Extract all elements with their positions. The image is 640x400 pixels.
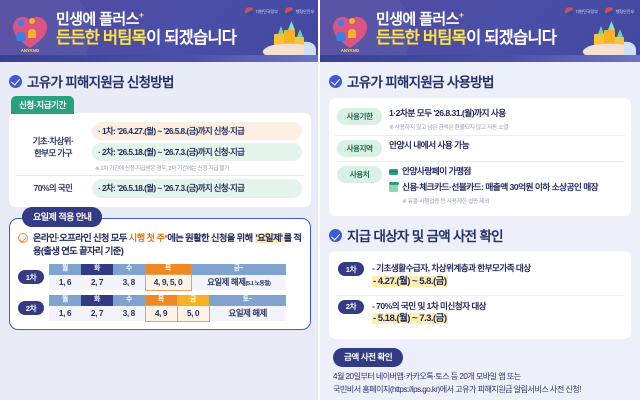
hand-holding-money-icon — [568, 14, 636, 60]
wk1-header-mon: 월 — [49, 264, 81, 275]
check-circle-outline-icon — [18, 233, 28, 243]
wk1-header-wed: 수 — [113, 264, 145, 275]
use-main-region: 안양시 내에서 사용 가능 — [389, 140, 623, 152]
confirm-text-block: 4월 20일부터 네이버앱·카카오톡·토스 등 20개 모바일 앱 또는 국민비… — [333, 371, 640, 397]
banner-line1-sup: + — [459, 10, 464, 20]
weekday-table-1cha: 월 화 수 목 금~ 1, 6 2, 7 3, 8 4, 9, 5, 0 요일제… — [49, 264, 286, 291]
banner-bottom-strip — [0, 55, 320, 62]
use-body-vendor: 안양사랑페이 가맹점 신용·체크카드·선불카드: 매출액 30억원 이하 소상공… — [389, 166, 623, 205]
round-badge-target-1cha: 1차 — [338, 262, 364, 276]
banner-line2-highlight: 든든한 버팀목 — [376, 29, 466, 47]
period-table: 기초·차상위·한부모 가구 · 1차: '26.4.27.(월) ~ '26.5… — [16, 119, 304, 201]
period-chip-1cha: · 1차: '26.4.27.(월) ~ '26.5.8.(금)까지 신청·지급 — [92, 122, 302, 140]
use-row-region: 사용지역 안양시 내에서 사용 가능 — [335, 135, 625, 161]
wk2-cell-wed: 3, 8 — [113, 306, 145, 321]
banner-line1: 민생에 플러스+ — [56, 11, 236, 28]
svg-text:ANYANG: ANYANG — [341, 48, 360, 53]
wk1-cell-tue: 2, 7 — [81, 275, 113, 290]
use-tag-vendor: 사용처 — [337, 166, 382, 183]
target-section-heading: 지급 대상자 및 금액 사전 확인 — [320, 225, 640, 245]
round-badge-target-2cha: 2차 — [338, 300, 364, 314]
use-tag-period: 사용기한 — [337, 108, 382, 125]
use-body-region: 안양시 내에서 사용 가능 — [389, 140, 623, 152]
period-tab-label: 신청·지급기간 — [11, 96, 74, 114]
infographic-page: ANYANG 민생에 플러스+ 든든한 버팀목이 되겠습니다 대한민국정부 행정… — [0, 0, 640, 400]
target-2cha-line2-text: - 5.18.(월) ~ 7.3.(금) — [372, 313, 448, 324]
use-body-period: 1·2차분 모두 '26.8.31.(월)까지 사용 ※ 사용하지 않고 남은 … — [389, 108, 623, 131]
target-1cha-line1: - 기초생활수급자, 차상위계층과 한부모가족 대상 — [372, 262, 622, 274]
wk1-header-tue: 화 — [81, 264, 113, 275]
banner-line2-rest: 이 되겠습니다 — [146, 29, 236, 47]
period-chip-2cha-70: · 2차: '26.5.18.(월) ~ '26.7.3.(금)까지 신청·지급 — [92, 179, 302, 197]
family-heart-emblem: ANYANG — [8, 10, 52, 54]
target-2cha-line2: - 5.18.(월) ~ 7.3.(금) — [372, 312, 622, 326]
wk2-cell-thu: 4, 9 — [145, 306, 177, 321]
weekday-info-part1: 온라인·오프라인 신청 모두 — [33, 233, 129, 243]
wk2-header-tue: 화 — [81, 295, 113, 306]
use-sub-period: ※ 사용하지 않고 남은 금액은 환불되지 않고 자동 소멸 — [389, 122, 623, 131]
use-row-vendor: 사용처 안양사랑페이 가맹점 신용·체크카드·선불카드: 매출액 30억원 이하… — [335, 161, 625, 209]
banner-bottom-strip — [320, 55, 640, 62]
wk2-header-fri: 금 — [177, 295, 209, 306]
target-1cha-line2: - 4.27.(월) ~ 5.8.(금) — [372, 275, 622, 289]
banner-line2: 든든한 버팀목이 되겠습니다 — [376, 29, 556, 47]
round-badge-1cha: 1차 — [18, 270, 44, 284]
banner-line1: 민생에 플러스+ — [376, 11, 556, 28]
period-row-0-label: 기초·차상위·한부모 가구 — [16, 119, 90, 176]
weekday-info-part2: 에는 원활한 신청을 위해 — [167, 233, 254, 243]
banner-line1-text: 민생에 플러스 — [376, 11, 459, 28]
period-row-0-note: ※ 1차 기간에 신청·지급받은 경우, 2차 기간에는 신청·지급 불가 — [92, 164, 302, 172]
wk2-cell-tue: 2, 7 — [81, 306, 113, 321]
use-section-title: 고유가 피해지원금 사용방법 — [347, 71, 494, 91]
store-icon — [389, 184, 398, 192]
wk2-header-thu: 목 — [145, 295, 177, 306]
weekday-info-hl2: '요일제' — [255, 233, 284, 243]
wk1-cell-fri: 요일제 해제(5.1 노동절) — [191, 275, 286, 290]
banner-line2: 든든한 버팀목이 되겠습니다 — [56, 29, 236, 47]
weekday-tables: 1차 월 화 수 목 금~ 1, 6 2, 7 3, 8 — [18, 264, 302, 322]
vendor-item-0-text: 안양사랑페이 가맹점 — [402, 166, 471, 178]
weekday-info-text: 온라인·오프라인 신청 모두 시행 첫 주*에는 원활한 신청을 위해 '요일제… — [33, 232, 302, 259]
left-section-title: 고유가 피해지원금 신청방법 — [27, 71, 174, 91]
weekday-info-row: 온라인·오프라인 신청 모두 시행 첫 주*에는 원활한 신청을 위해 '요일제… — [18, 232, 302, 259]
banner-line1-sup: + — [139, 10, 144, 20]
left-panel: ANYANG 민생에 플러스+ 든든한 버팀목이 되겠습니다 대한민국정부 행정… — [0, 0, 320, 400]
period-row-1-label: 70%의 국민 — [16, 176, 90, 201]
table-row: 월 화 수 목 금 토~ — [49, 295, 286, 306]
svg-text:ANYANG: ANYANG — [21, 48, 40, 53]
left-section-heading: 고유가 피해지원금 신청방법 — [0, 71, 320, 91]
use-row-period: 사용기한 1·2차분 모두 '26.8.31.(월)까지 사용 ※ 사용하지 않… — [335, 104, 625, 135]
confirm-line1: 4월 20일부터 네이버앱·카카오톡·토스 등 20개 모바일 앱 또는 — [333, 371, 640, 384]
table-row: 월 화 수 목 금~ — [49, 264, 286, 275]
table-row: 70%의 국민 · 2차: '26.5.18.(월) ~ '26.7.3.(금)… — [16, 176, 304, 201]
target-card: 1차 - 기초생활수급자, 차상위계층과 한부모가족 대상 - 4.27.(월)… — [329, 251, 631, 339]
wk1-cell-wed: 3, 8 — [113, 275, 145, 290]
card-icon — [389, 169, 398, 176]
vendor-item-1-text: 신용·체크카드·선불카드: 매출액 30억원 이하 소상공인 매장 — [402, 182, 598, 194]
period-chip-2cha: · 2차: '26.5.18.(월) ~ '26.7.3.(금)까지 신청·지급 — [92, 143, 302, 161]
vendor-item-0: 안양사랑페이 가맹점 — [389, 166, 623, 178]
wk2-cell-mon: 1, 6 — [49, 306, 81, 321]
target-lines-1cha: - 기초생활수급자, 차상위계층과 한부모가족 대상 - 4.27.(월) ~ … — [372, 262, 622, 288]
period-card: 기초·차상위·한부모 가구 · 1차: '26.4.27.(월) ~ '26.5… — [9, 113, 311, 207]
period-row-0-body: · 1차: '26.4.27.(월) ~ '26.5.8.(금)까지 신청·지급… — [90, 119, 304, 176]
target-lines-2cha: - 70%의 국민 및 1차 미신청자 대상 - 5.18.(월) ~ 7.3.… — [372, 300, 622, 326]
use-section-heading: 고유가 피해지원금 사용방법 — [320, 71, 640, 91]
use-main-period: 1·2차분 모두 '26.8.31.(월)까지 사용 — [389, 108, 623, 120]
wk1-cell-thu: 4, 9, 5, 0 — [145, 275, 191, 290]
wk2-header-wed: 수 — [113, 295, 145, 306]
check-circle-icon — [9, 75, 22, 88]
wk2-header-mon: 월 — [49, 295, 81, 306]
check-circle-icon — [329, 229, 342, 242]
right-panel: ANYANG 민생에 플러스+ 든든한 버팀목이 되겠습니다 대한민국정부 행정… — [320, 0, 640, 400]
weekday-info-hl1: 시행 첫 주* — [129, 233, 168, 243]
banner-text-block: 민생에 플러스+ 든든한 버팀목이 되겠습니다 — [56, 11, 236, 48]
table-row: 1, 6 2, 7 3, 8 4, 9 5, 0 요일제 해제 — [49, 306, 286, 321]
weekday-pill-label: 요일제 적용 안내 — [22, 207, 102, 227]
wk2-cell-fri: 5, 0 — [177, 306, 209, 321]
target-2cha-line1: - 70%의 국민 및 1차 미신청자 대상 — [372, 300, 622, 312]
confirm-pill-label: 금액 사전 확인 — [333, 348, 403, 367]
wk1-header-fri: 금~ — [191, 264, 286, 275]
target-row-2cha: 2차 - 70%의 국민 및 1차 미신청자 대상 - 5.18.(월) ~ 7… — [336, 295, 624, 331]
target-1cha-line2-text: - 4.27.(월) ~ 5.8.(금) — [372, 276, 448, 287]
wk1-cell-fri-sub: (5.1 노동절) — [246, 281, 271, 287]
target-section-title: 지급 대상자 및 금액 사전 확인 — [347, 225, 503, 245]
period-row-1-body: · 2차: '26.5.18.(월) ~ '26.7.3.(금)까지 신청·지급 — [90, 176, 304, 201]
weekday-row-2cha: 2차 월 화 수 목 금 토~ 1, 6 2, 7 — [18, 295, 302, 322]
banner-text-block: 민생에 플러스+ 든든한 버팀목이 되겠습니다 — [376, 11, 556, 48]
vendor-note: ※ 유흥·사행업종 등 사용제한 업종 제외 — [389, 196, 623, 205]
weekday-info-box: 온라인·오프라인 신청 모두 시행 첫 주*에는 원활한 신청을 위해 '요일제… — [9, 218, 311, 330]
wk2-header-sat: 토~ — [209, 295, 286, 306]
target-row-1cha: 1차 - 기초생활수급자, 차상위계층과 한부모가족 대상 - 4.27.(월)… — [336, 258, 624, 293]
use-card: 사용기한 1·2차분 모두 '26.8.31.(월)까지 사용 ※ 사용하지 않… — [329, 98, 631, 216]
vendor-item-1: 신용·체크카드·선불카드: 매출액 30억원 이하 소상공인 매장 — [389, 182, 623, 194]
banner-line2-rest: 이 되겠습니다 — [466, 29, 556, 47]
weekday-table-2cha: 월 화 수 목 금 토~ 1, 6 2, 7 3, 8 4, 9 5 — [49, 295, 286, 322]
wk2-cell-sat: 요일제 해제 — [209, 306, 286, 321]
banner-left: ANYANG 민생에 플러스+ 든든한 버팀목이 되겠습니다 대한민국정부 행정… — [0, 0, 320, 62]
wk1-cell-fri-text: 요일제 해제 — [207, 277, 245, 287]
check-circle-icon — [329, 75, 342, 88]
confirm-line2: 국민비서 홈페이지(https://ips.go.kr)에서 고유가 피해지원금… — [333, 384, 640, 397]
table-row: 1, 6 2, 7 3, 8 4, 9, 5, 0 요일제 해제(5.1 노동절… — [49, 275, 286, 290]
banner-right: ANYANG 민생에 플러스+ 든든한 버팀목이 되겠습니다 대한민국정부 행정… — [320, 0, 640, 62]
family-heart-emblem: ANYANG — [328, 10, 372, 54]
wk1-cell-mon: 1, 6 — [49, 275, 81, 290]
banner-line1-text: 민생에 플러스 — [56, 11, 139, 28]
weekday-row-1cha: 1차 월 화 수 목 금~ 1, 6 2, 7 3, 8 — [18, 264, 302, 291]
round-badge-2cha: 2차 — [18, 301, 44, 315]
table-row: 기초·차상위·한부모 가구 · 1차: '26.4.27.(월) ~ '26.5… — [16, 119, 304, 176]
banner-line2-highlight: 든든한 버팀목 — [56, 29, 146, 47]
use-tag-region: 사용지역 — [337, 140, 382, 157]
hand-holding-money-icon — [248, 14, 316, 60]
wk1-header-thu: 목 — [145, 264, 191, 275]
